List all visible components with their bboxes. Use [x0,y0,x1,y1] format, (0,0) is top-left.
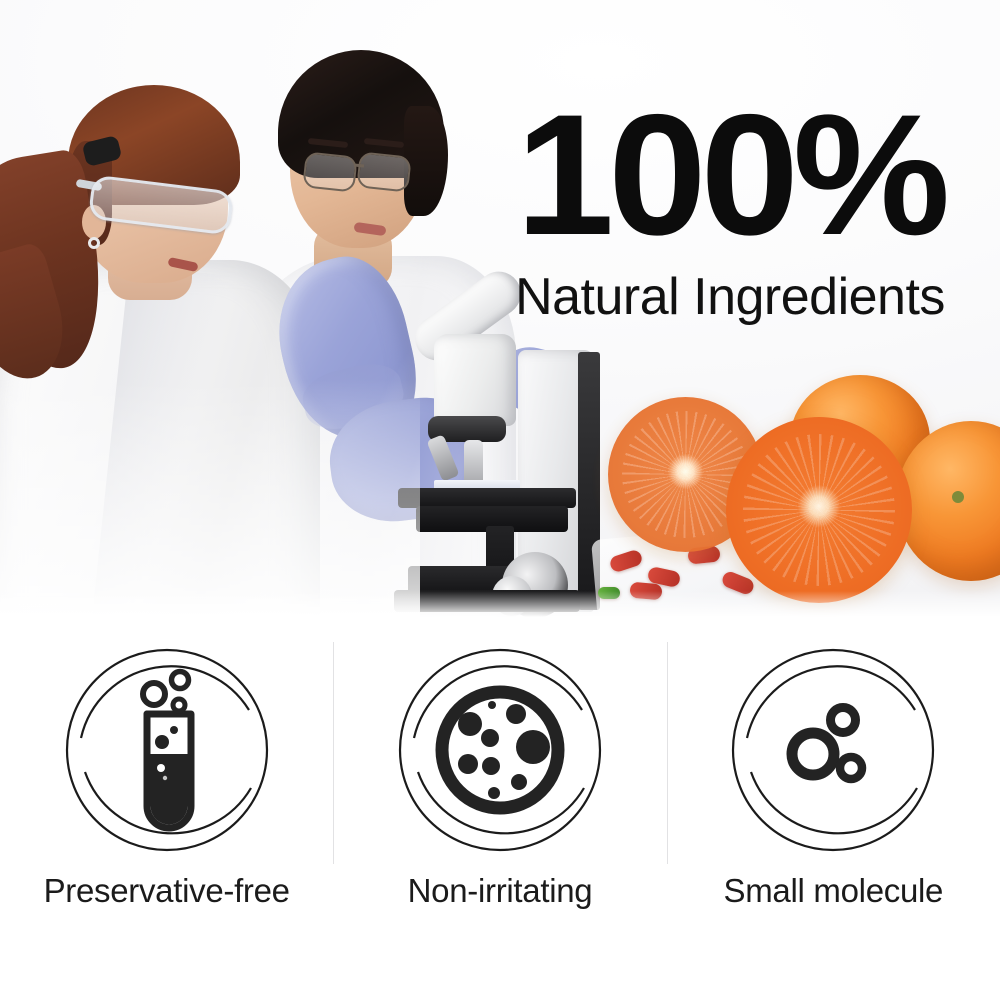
feature-non-irritating[interactable]: Non-irritating [333,617,666,1000]
petri-dish-with-cells-icon [392,642,608,858]
photo-bottom-fade [0,591,1000,617]
feature-row: Preservative-free [0,617,1000,1000]
feature-label: Preservative-free [44,872,290,910]
feature-label: Small molecule [724,872,944,910]
headline-block: 100% Natural Ingredients [505,96,955,325]
promo-infographic: 100% Natural Ingredients [0,0,1000,1000]
feature-small-molecule[interactable]: Small molecule [667,617,1000,1000]
hero-photo-banner: 100% Natural Ingredients [0,0,1000,617]
test-tube-with-bubbles-icon [59,642,275,858]
orange-stem [952,491,964,503]
feature-label: Non-irritating [408,872,593,910]
microscope-head [434,334,516,426]
orange-fruit-group [600,375,1000,617]
feature-preservative-free[interactable]: Preservative-free [0,617,333,1000]
eyeglasses-lens-right [356,151,411,192]
microscope [390,290,620,617]
molecule-rings-icon [725,642,941,858]
microscope-stage [398,488,576,508]
earring [88,237,100,249]
headline-percentage: 100% [498,96,962,254]
orange-half-center [726,417,912,603]
hair-side [404,106,448,216]
photo-lower-fade [0,380,420,617]
headline-subtitle: Natural Ingredients [505,270,955,325]
